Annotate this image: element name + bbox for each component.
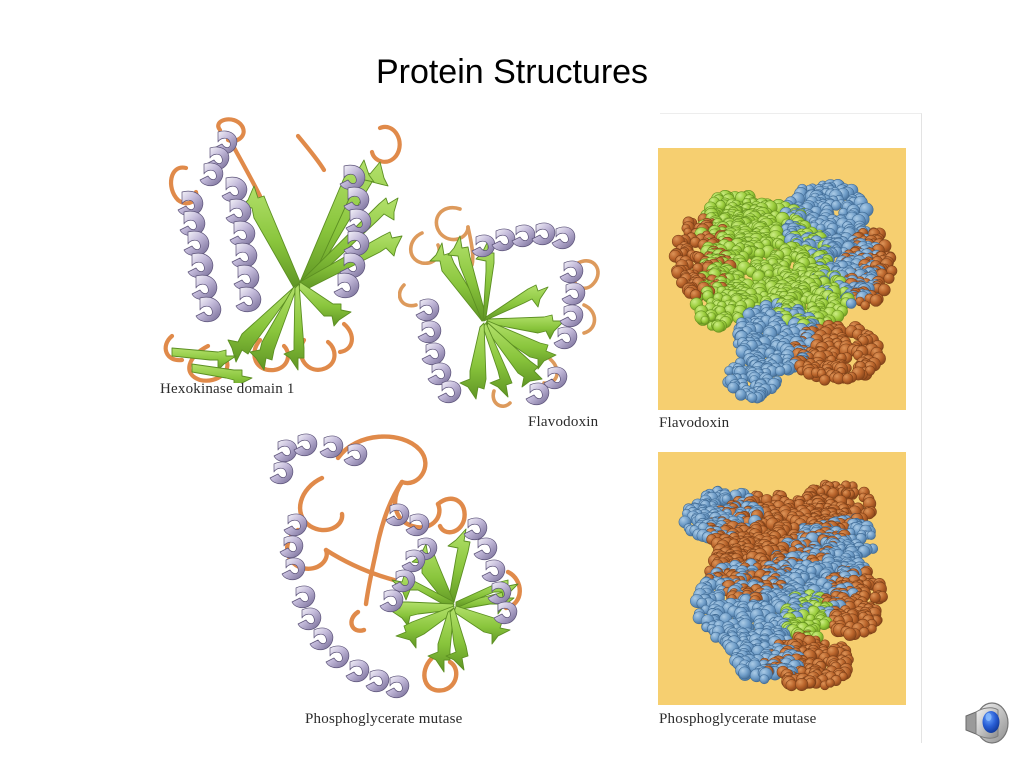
figure-hexokinase-ribbon xyxy=(148,108,418,383)
slide-canvas: Protein Structures xyxy=(0,0,1024,768)
figure-flavodoxin-ribbon xyxy=(398,193,623,413)
figure-phosphoglycerate-mutase-ribbon xyxy=(262,422,552,707)
caption-phosphoglycerate-mutase-spacefill: Phosphoglycerate mutase xyxy=(659,711,816,728)
figure-phosphoglycerate-mutase-spacefill xyxy=(658,452,906,705)
page-title: Protein Structures xyxy=(0,52,1024,92)
figure-flavodoxin-spacefill xyxy=(658,148,906,410)
caption-phosphoglycerate-mutase-ribbon: Phosphoglycerate mutase xyxy=(305,711,462,728)
speaker-icon[interactable] xyxy=(958,696,1014,748)
caption-hexokinase-ribbon: Hexokinase domain 1 xyxy=(160,381,295,398)
caption-flavodoxin-spacefill: Flavodoxin xyxy=(659,415,729,432)
